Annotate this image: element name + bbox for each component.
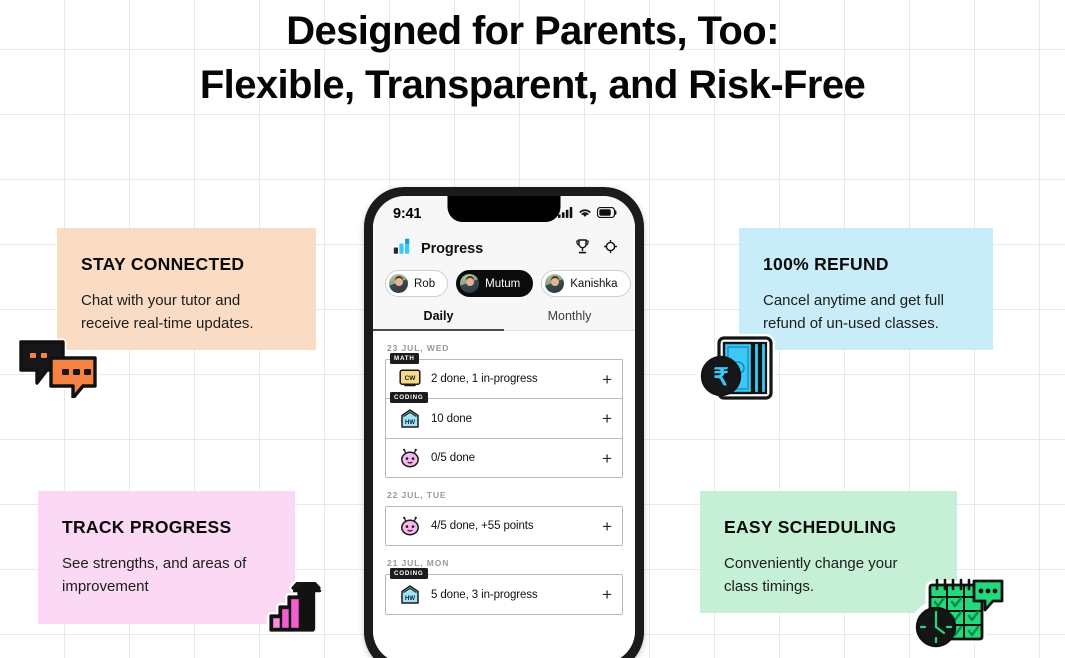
avatar: [389, 274, 408, 293]
feed-date-label: 23 JUL, WED: [387, 343, 623, 353]
feature-card-desc-line2: refund of un-used classes.: [763, 315, 939, 332]
trophy-icon[interactable]: [576, 239, 589, 259]
page-title-line2: Flexible, Transparent, and Risk-Free: [0, 58, 1065, 112]
page-title-line1: Designed for Parents, Too:: [286, 9, 779, 53]
feature-card-desc-line1: Cancel anytime and get full: [763, 292, 944, 309]
feed-row[interactable]: CODING HW 10 done +: [386, 398, 622, 438]
svg-text:HW: HW: [405, 420, 415, 426]
app-header-actions: [576, 239, 617, 259]
student-chip-label: Rob: [414, 278, 435, 290]
add-button[interactable]: +: [602, 518, 612, 535]
feature-card-desc-line2: class timings.: [724, 578, 814, 595]
status-time: 9:41: [393, 206, 421, 222]
phone-notch: [448, 196, 561, 222]
svg-text:₹: ₹: [713, 364, 728, 391]
feed-row-text: 5 done, 3 in-progress: [431, 589, 538, 601]
feed-row[interactable]: 4/5 done, +55 points +: [386, 507, 622, 545]
chat-bubbles-icon: [17, 336, 99, 398]
feature-card-description: Conveniently change your class timings.: [724, 552, 933, 599]
subject-tag: CODING: [390, 392, 428, 403]
add-button[interactable]: +: [602, 450, 612, 467]
avatar: [545, 274, 564, 293]
phone-mockup: 9:41: [364, 187, 644, 658]
feed-row-text: 10 done: [431, 413, 472, 425]
status-icon-group: [558, 205, 617, 223]
tab-monthly[interactable]: Monthly: [504, 305, 635, 330]
feed-row[interactable]: CODING HW 5 done, 3 in-progress +: [386, 575, 622, 614]
feed-row-text: 2 done, 1 in-progress: [431, 373, 538, 385]
feed-row[interactable]: 0/5 done +: [386, 438, 622, 477]
svg-text:CW: CW: [405, 375, 417, 382]
feature-card-description: See strengths, and areas of improvement: [62, 552, 271, 599]
feed-group: MATH CW 2 done, 1 in-progress + CODING: [385, 359, 623, 478]
add-button[interactable]: +: [602, 586, 612, 603]
app-header: Progress: [373, 232, 635, 268]
student-chip-mutum[interactable]: Mutum: [456, 270, 533, 297]
bar-chart-icon: [393, 238, 412, 260]
cw-board-icon: CW: [395, 369, 425, 389]
app-title: Progress: [421, 241, 483, 257]
feature-card-desc-line1: See strengths, and areas of: [62, 555, 246, 572]
add-button[interactable]: +: [602, 371, 612, 388]
wifi-icon: [578, 205, 592, 223]
page-title: Designed for Parents, Too: Flexible, Tra…: [0, 4, 1065, 112]
feed-group: CODING HW 5 done, 3 in-progress +: [385, 574, 623, 615]
tab-daily[interactable]: Daily: [373, 305, 504, 330]
feed-date-label: 21 JUL, MON: [387, 558, 623, 568]
feature-card-desc-line2: receive real-time updates.: [81, 315, 254, 332]
subject-tag: MATH: [390, 353, 419, 364]
feature-card-title: STAY CONNECTED: [81, 254, 292, 275]
feed-group: 4/5 done, +55 points +: [385, 506, 623, 546]
hw-badge-icon: HW: [395, 408, 425, 429]
hw-badge-icon: HW: [395, 584, 425, 605]
feature-card-title: 100% REFUND: [763, 254, 969, 275]
settings-gear-icon[interactable]: [604, 240, 617, 258]
robot-icon: [395, 516, 425, 536]
svg-text:HW: HW: [405, 596, 415, 602]
student-chip-rob[interactable]: Rob: [385, 270, 448, 297]
student-chip-label: Mutum: [485, 278, 520, 290]
robot-icon: [395, 448, 425, 468]
add-button[interactable]: +: [602, 410, 612, 427]
period-tabs[interactable]: Daily Monthly: [373, 305, 635, 331]
feature-card-desc-line1: Chat with your tutor and: [81, 292, 240, 309]
feed-date-label-partial: [387, 627, 623, 633]
feature-card-title: EASY SCHEDULING: [724, 517, 933, 538]
feature-card-description: Cancel anytime and get full refund of un…: [763, 289, 969, 336]
feature-card-title: TRACK PROGRESS: [62, 517, 271, 538]
feed-date-label: 22 JUL, TUE: [387, 490, 623, 500]
student-chip-label: Kanishka: [570, 278, 617, 290]
feed-row-text: 0/5 done: [431, 452, 475, 464]
calendar-clock-icon: [912, 567, 1010, 655]
avatar: [460, 274, 479, 293]
feature-card-track-progress: TRACK PROGRESS See strengths, and areas …: [38, 491, 295, 624]
feed-row-text: 4/5 done, +55 points: [431, 520, 534, 532]
student-chip-kanishka[interactable]: Kanishka: [541, 270, 630, 297]
feature-card-description: Chat with your tutor and receive real-ti…: [81, 289, 292, 336]
money-rupee-icon: ₹: [697, 332, 777, 404]
battery-icon: [597, 205, 617, 223]
student-chip-list[interactable]: Rob Mutum Kanishka: [373, 268, 635, 305]
feature-card-desc-line1: Conveniently change your: [724, 555, 897, 572]
feature-card-stay-connected: STAY CONNECTED Chat with your tutor and …: [57, 228, 316, 350]
feature-card-refund: 100% REFUND Cancel anytime and get full …: [739, 228, 993, 350]
feature-card-desc-line2: improvement: [62, 578, 149, 595]
subject-tag: CODING: [390, 568, 428, 579]
progress-feed: 23 JUL, WED MATH CW 2 done, 1 in-progres…: [373, 331, 635, 658]
bar-chart-arrow-icon: [267, 582, 329, 637]
phone-screen: 9:41: [373, 196, 635, 658]
